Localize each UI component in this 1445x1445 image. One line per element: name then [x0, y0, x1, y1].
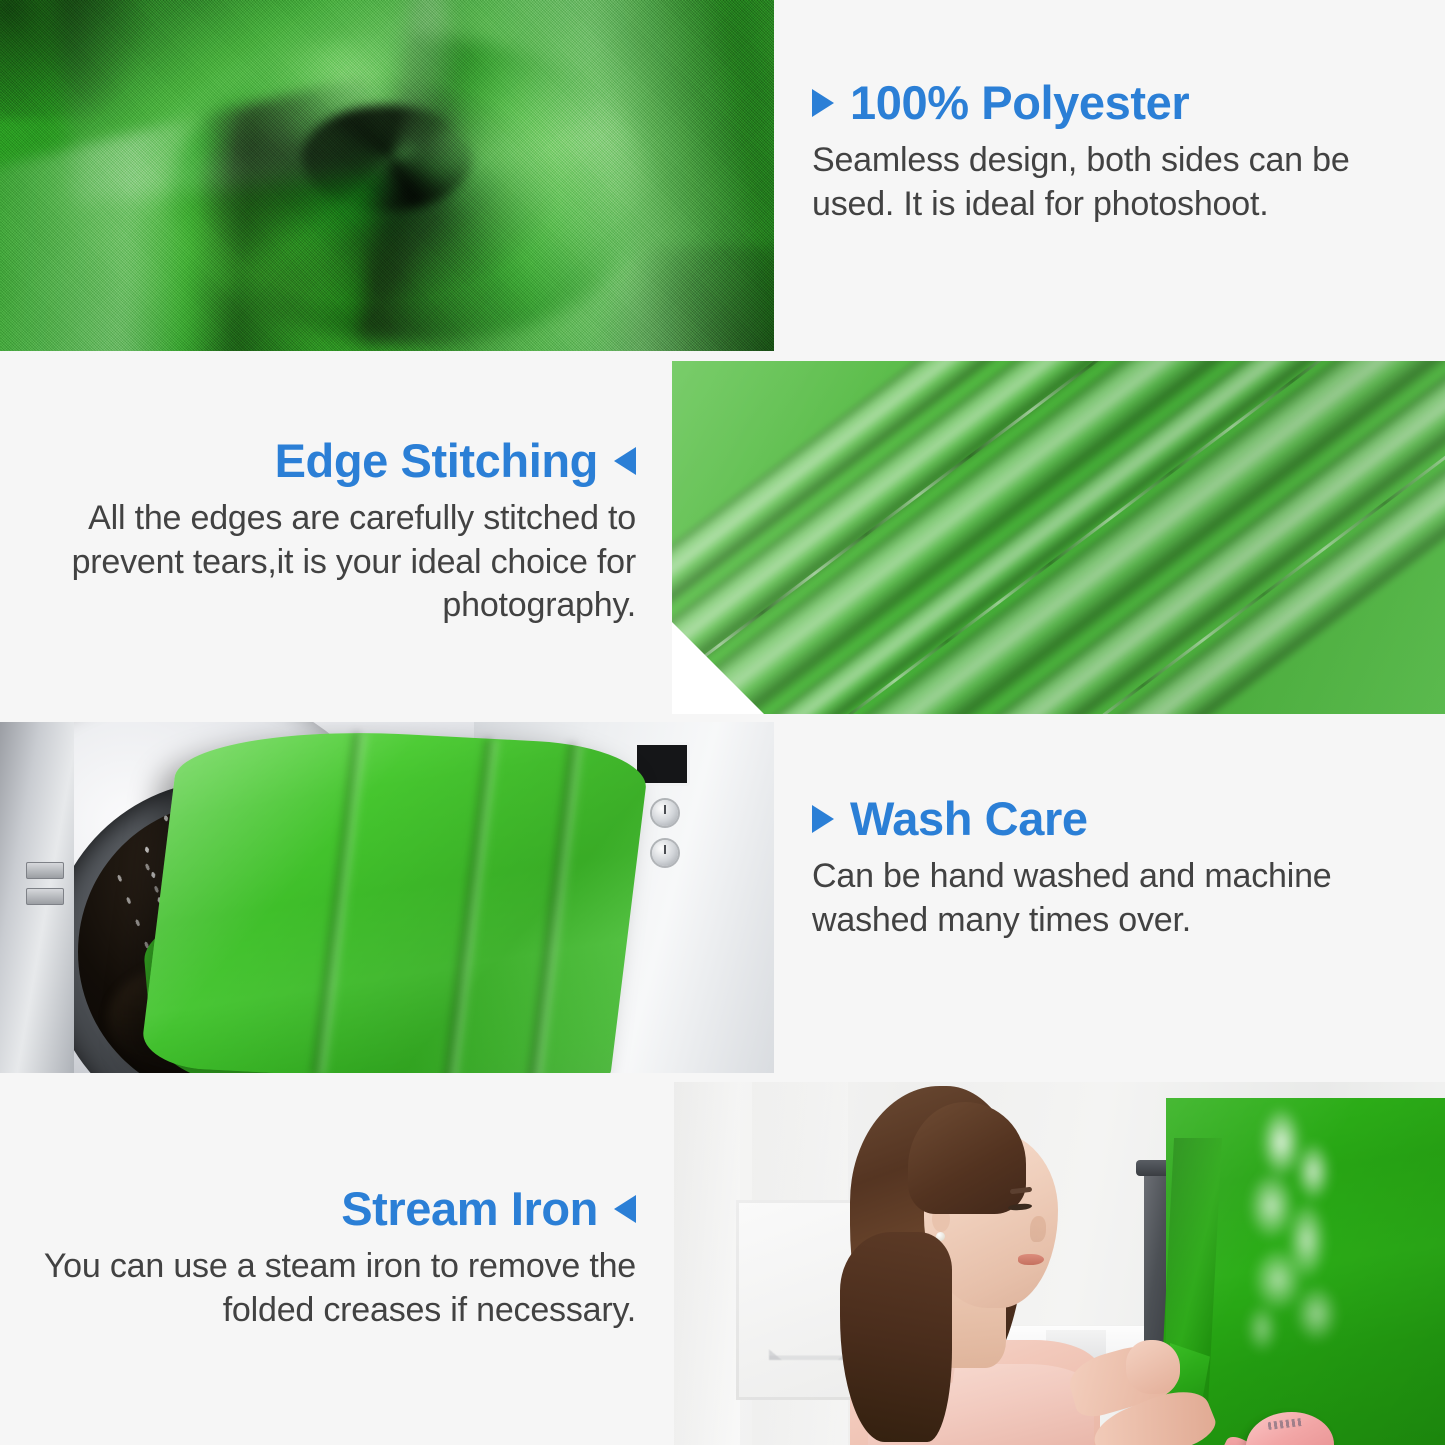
green-cloth — [139, 723, 651, 1073]
feature-heading-edge-stitching: Edge Stitching — [8, 436, 636, 485]
feature-heading-label: 100% Polyester — [850, 78, 1189, 127]
fabric-weave-texture — [0, 0, 774, 351]
feature-body-wash-care: Can be hand washed and machine washed ma… — [812, 855, 1432, 942]
feature-text-polyester: 100% Polyester Seamless design, both sid… — [812, 78, 1432, 226]
feature-body-edge-stitching: All the edges are carefully stitched to … — [8, 497, 636, 628]
model-lips — [1018, 1254, 1044, 1265]
photo-corner-cut — [672, 620, 766, 714]
triangle-right-icon — [812, 89, 834, 117]
feature-heading-stream-iron: Stream Iron — [8, 1184, 636, 1233]
infographic-sheet: 100% Polyester Seamless design, both sid… — [0, 0, 1445, 1445]
steam-plume — [1214, 1108, 1374, 1353]
feature-text-edge-stitching: Edge Stitching All the edges are careful… — [8, 436, 636, 628]
triangle-left-icon — [614, 447, 636, 475]
feature-image-stream-iron — [674, 1082, 1445, 1445]
feature-image-polyester — [0, 0, 774, 351]
feature-heading-label: Wash Care — [850, 794, 1088, 843]
feature-image-wash-care — [0, 722, 774, 1073]
model-nose — [1030, 1216, 1046, 1242]
feature-heading-wash-care: Wash Care — [812, 794, 1432, 843]
feature-heading-label: Stream Iron — [341, 1184, 598, 1233]
fold-fabric-sheen — [672, 361, 1445, 714]
model-hand-holding-fabric — [1126, 1340, 1180, 1394]
feature-heading-polyester: 100% Polyester — [812, 78, 1432, 127]
feature-heading-label: Edge Stitching — [275, 436, 598, 485]
model-hair-length — [840, 1232, 952, 1442]
triangle-right-icon — [812, 805, 834, 833]
machine-latch-hardware — [26, 862, 68, 942]
feature-body-stream-iron: You can use a steam iron to remove the f… — [8, 1245, 636, 1332]
machine-knob — [652, 840, 678, 866]
machine-knob — [652, 800, 678, 826]
feature-text-stream-iron: Stream Iron You can use a steam iron to … — [8, 1184, 636, 1332]
feature-image-edge-stitching — [672, 361, 1445, 714]
feature-body-polyester: Seamless design, both sides can be used.… — [812, 139, 1432, 226]
feature-text-wash-care: Wash Care Can be hand washed and machine… — [812, 794, 1432, 942]
wall-panel — [674, 1082, 740, 1445]
triangle-left-icon — [614, 1195, 636, 1223]
